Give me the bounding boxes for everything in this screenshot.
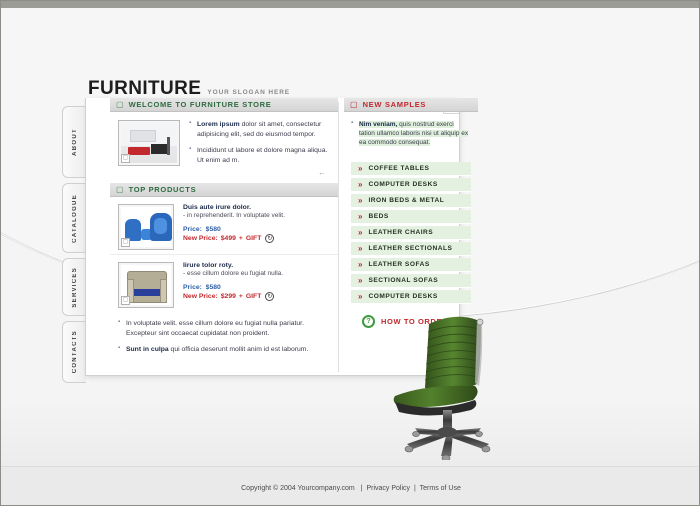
category-label: SECTIONAL SOFAS	[368, 277, 438, 284]
category-item-leather-sofas[interactable]: » LEATHER SOFAS	[351, 258, 471, 272]
product-description: - esse cillum dolore eu fugiat nulla.	[183, 270, 330, 277]
cart-icon: ▢	[116, 101, 124, 109]
product-info: Duis aute irure dolor. - in reprehenderi…	[183, 204, 330, 250]
welcome-paragraph-2-text: Incididunt ut labore et dolore magna ali…	[197, 147, 327, 164]
question-mark-icon: ?	[362, 315, 375, 328]
sidebar-item-services-label: SERVICES	[72, 264, 78, 311]
welcome-thumbnail[interactable]: ▢	[118, 120, 180, 166]
chevron-right-icon: »	[358, 229, 362, 237]
category-item-computer-desks[interactable]: » COMPUTER DESKS	[351, 178, 471, 192]
footer: Copyright © 2004 Yourcompany.com | Priva…	[0, 485, 700, 492]
product-new-price: New Price: $499 + GIFT ↻	[183, 234, 330, 243]
category-item-leather-sectionals[interactable]: » LEATHER SECTIONALS	[351, 242, 471, 256]
product-row: ▢ Iirure tolor roty. - esse cillum dolor…	[110, 255, 338, 312]
product-price-value: $580	[206, 226, 221, 233]
category-item-iron-beds-metal[interactable]: » IRON BEDS & METAL	[351, 194, 471, 208]
product-row: ▢ Duis aute irure dolor. - in reprehende…	[110, 197, 338, 255]
category-label: COFFEE TABLES	[368, 165, 429, 172]
sidebar-item-services[interactable]: SERVICES	[62, 258, 86, 316]
lower-band-upper	[0, 406, 700, 466]
product-price-value: $580	[206, 284, 221, 291]
product-new-price-value: $499	[221, 235, 236, 242]
product-description: - in reprehenderit. In voluptate velit.	[183, 212, 330, 219]
welcome-paragraph-1: Lorem ipsum dolor sit amet, consectetur …	[189, 120, 330, 139]
wall-picture	[130, 130, 156, 142]
category-label: LEATHER CHAIRS	[368, 229, 433, 236]
bottom-paragraph-2-bold: Sunt in culpa	[126, 346, 169, 353]
category-item-beds[interactable]: » BEDS	[351, 210, 471, 224]
chevron-right-icon: »	[358, 165, 362, 173]
samples-intro-bold: Nim veniam,	[359, 121, 397, 128]
welcome-paragraph-1-bold: Lorem ipsum	[197, 121, 240, 128]
product-price-label: Price:	[183, 284, 202, 291]
welcome-more-arrow-icon[interactable]: ←	[189, 168, 330, 177]
product-gift-label: GIFT	[246, 235, 261, 242]
product-new-price-value: $299	[221, 293, 236, 300]
sidebar-item-about-label: ABOUT	[72, 125, 78, 159]
product-price: Price: $580	[183, 284, 330, 291]
product-gift-plus: +	[239, 235, 243, 242]
chevron-right-icon: »	[358, 293, 362, 301]
chevron-right-icon: »	[358, 261, 362, 269]
category-label: LEATHER SOFAS	[368, 261, 429, 268]
top-strip	[0, 0, 700, 8]
bottom-text-block: In voluptate velit. esse cillum dolore e…	[110, 312, 338, 370]
samples-intro: Nim veniam, quis nostrud exerci tation u…	[344, 112, 478, 160]
category-item-coffee-tables[interactable]: » COFFEE TABLES	[351, 162, 471, 176]
chevron-right-icon: »	[358, 277, 362, 285]
welcome-heading: WELCOME TO FURNITURE STORE	[129, 100, 272, 109]
samples-intro-paragraph: Nim veniam, quis nostrud exerci tation u…	[351, 120, 471, 147]
products-section-header: ▢ TOP PRODUCTS	[110, 183, 338, 197]
chevron-right-icon: »	[358, 245, 362, 253]
samples-section-header: ▢ NEW SAMPLES	[344, 98, 478, 112]
cart-icon: ▢	[350, 101, 358, 109]
column-divider	[338, 102, 339, 372]
footer-separator-2: |	[414, 485, 416, 492]
footer-separator-1: |	[361, 485, 363, 492]
clock-icon: ↻	[265, 292, 274, 301]
product-new-price-label: New Price:	[183, 293, 218, 300]
product-thumbnail[interactable]: ▢	[118, 204, 174, 250]
category-list: » COFFEE TABLES » COMPUTER DESKS » IRON …	[344, 160, 478, 304]
category-item-sectional-sofas[interactable]: » SECTIONAL SOFAS	[351, 274, 471, 288]
welcome-body: ▢ Lorem ipsum dolor sit amet, consectetu…	[110, 112, 338, 183]
welcome-paragraph-2: Incididunt ut labore et dolore magna ali…	[189, 146, 330, 165]
category-item-leather-chairs[interactable]: » LEATHER CHAIRS	[351, 226, 471, 240]
chevron-right-icon: »	[358, 213, 362, 221]
site-header: FURNITURE YOUR SLOGAN HERE	[88, 78, 290, 100]
category-label: IRON BEDS & METAL	[368, 197, 444, 204]
footer-privacy-link[interactable]: Privacy Policy	[366, 485, 410, 492]
sidebar-item-contacts-label: CONTACTS	[72, 327, 78, 376]
chair-svg	[385, 310, 510, 460]
broken-image-icon: ▢	[121, 238, 130, 247]
floor-lamp	[167, 137, 170, 155]
category-label: BEDS	[368, 213, 388, 220]
category-label: COMPUTER DESKS	[368, 293, 437, 300]
bottom-paragraph-2-rest: qui officia deserunt mollit anim id est …	[169, 346, 309, 353]
category-label: LEATHER SECTIONALS	[368, 245, 452, 252]
footer-copyright: Copyright © 2004 Yourcompany.com	[241, 485, 355, 492]
product-title: Iirure tolor roty.	[183, 262, 330, 269]
site-slogan: YOUR SLOGAN HERE	[207, 89, 290, 96]
sidebar-item-contacts[interactable]: CONTACTS	[62, 321, 86, 383]
sidebar-item-catalogue-label: CATALOGUE	[72, 191, 78, 246]
product-info: Iirure tolor roty. - esse cillum dolore …	[183, 262, 330, 308]
green-office-chair-photo	[385, 310, 510, 460]
broken-image-icon: ▢	[121, 154, 130, 163]
broken-image-icon: ▢	[121, 296, 130, 305]
chevron-right-icon: »	[358, 197, 362, 205]
products-body: ▢ Duis aute irure dolor. - in reprehende…	[110, 197, 338, 312]
samples-heading: NEW SAMPLES	[363, 100, 427, 109]
product-gift-label: GIFT	[246, 293, 261, 300]
product-thumbnail[interactable]: ▢	[118, 262, 174, 308]
sidebar-item-about[interactable]: ABOUT	[62, 106, 86, 178]
product-new-price-label: New Price:	[183, 235, 218, 242]
product-price: Price: $580	[183, 226, 330, 233]
site-title: FURNITURE	[88, 78, 201, 100]
products-heading: TOP PRODUCTS	[129, 185, 197, 194]
product-price-label: Price:	[183, 226, 202, 233]
vertical-nav: ABOUT CATALOGUE SERVICES CONTACTS	[62, 106, 86, 388]
product-gift-plus: +	[239, 293, 243, 300]
clock-icon: ↻	[265, 234, 274, 243]
category-label: COMPUTER DESKS	[368, 181, 437, 188]
sidebar-item-catalogue[interactable]: CATALOGUE	[62, 183, 86, 253]
red-sofa	[128, 147, 150, 155]
bottom-paragraph-2: Sunt in culpa qui officia deserunt molli…	[118, 345, 330, 355]
welcome-text: Lorem ipsum dolor sit amet, consectetur …	[189, 120, 330, 177]
chevron-right-icon: »	[358, 181, 362, 189]
cart-icon: ▢	[116, 186, 124, 194]
category-item-computer-desks-2[interactable]: » COMPUTER DESKS	[351, 290, 471, 304]
left-column: ▢ WELCOME TO FURNITURE STORE ▢ Lorem ips…	[110, 98, 338, 376]
product-title: Duis aute irure dolor.	[183, 204, 330, 211]
footer-terms-link[interactable]: Terms of Use	[420, 485, 461, 492]
bottom-paragraph-1: In voluptate velit. esse cillum dolore e…	[118, 319, 330, 338]
product-new-price: New Price: $299 + GIFT ↻	[183, 292, 330, 301]
welcome-section-header: ▢ WELCOME TO FURNITURE STORE	[110, 98, 338, 112]
